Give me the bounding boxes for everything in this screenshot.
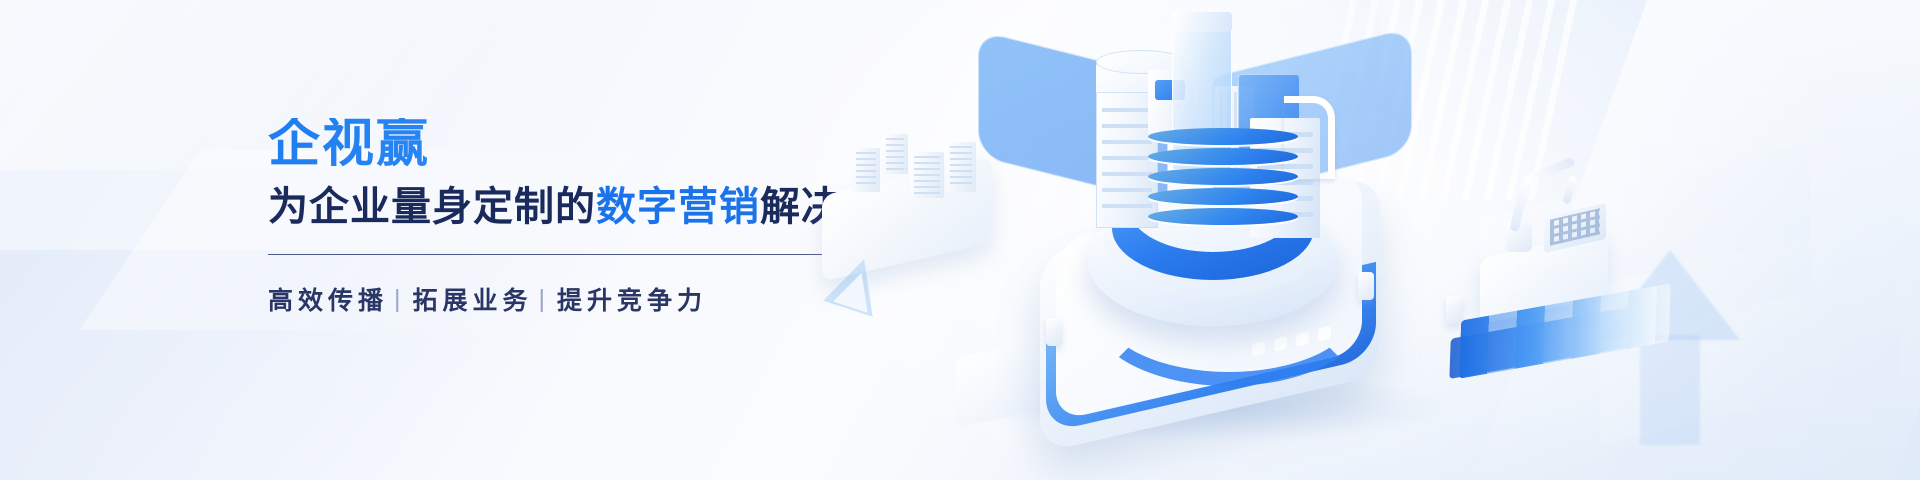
tagline-separator-1: |: [394, 285, 401, 314]
mini-building-2: [882, 134, 908, 174]
mini-building-1: [852, 148, 880, 192]
hero-copy: 企视赢 为企业量身定制的数字营销解决方案 高效传播 | 拓展业务 | 提升竞争力: [268, 118, 908, 317]
layered-blue-disc: [1148, 128, 1298, 226]
glass-tower-cap: [1172, 12, 1232, 32]
peg-2: [1358, 272, 1374, 300]
tagline-item-2: 拓展业务: [413, 281, 533, 317]
peg-3: [1446, 296, 1462, 324]
headline-highlight: 数字营销: [596, 185, 760, 229]
mini-building-3: [910, 152, 944, 198]
divider: [268, 254, 838, 255]
page-title: 为企业量身定制的数字营销解决方案: [268, 184, 908, 230]
peg-1: [1046, 318, 1062, 346]
tagline-item-1: 高效传播: [268, 281, 388, 317]
disc-layer-5: [1148, 208, 1298, 225]
brand-title: 企视赢: [268, 118, 908, 170]
disc-layer-2: [1148, 148, 1298, 165]
hero-illustration: [860, 0, 1920, 480]
tagline-item-3: 提升竞争力: [557, 281, 707, 317]
headline-lead: 为企业量身定制的: [268, 185, 596, 229]
disc-layer-1: [1148, 128, 1298, 145]
tagline-separator-2: |: [539, 285, 546, 314]
disc-layer-3: [1148, 168, 1298, 185]
tagline: 高效传播 | 拓展业务 | 提升竞争力: [268, 281, 908, 317]
hero-banner: 企视赢 为企业量身定制的数字营销解决方案 高效传播 | 拓展业务 | 提升竞争力: [0, 0, 1920, 480]
disc-layer-4: [1148, 188, 1298, 205]
robotic-arm-segment-3: [1562, 175, 1577, 204]
mini-building-4: [946, 142, 976, 192]
